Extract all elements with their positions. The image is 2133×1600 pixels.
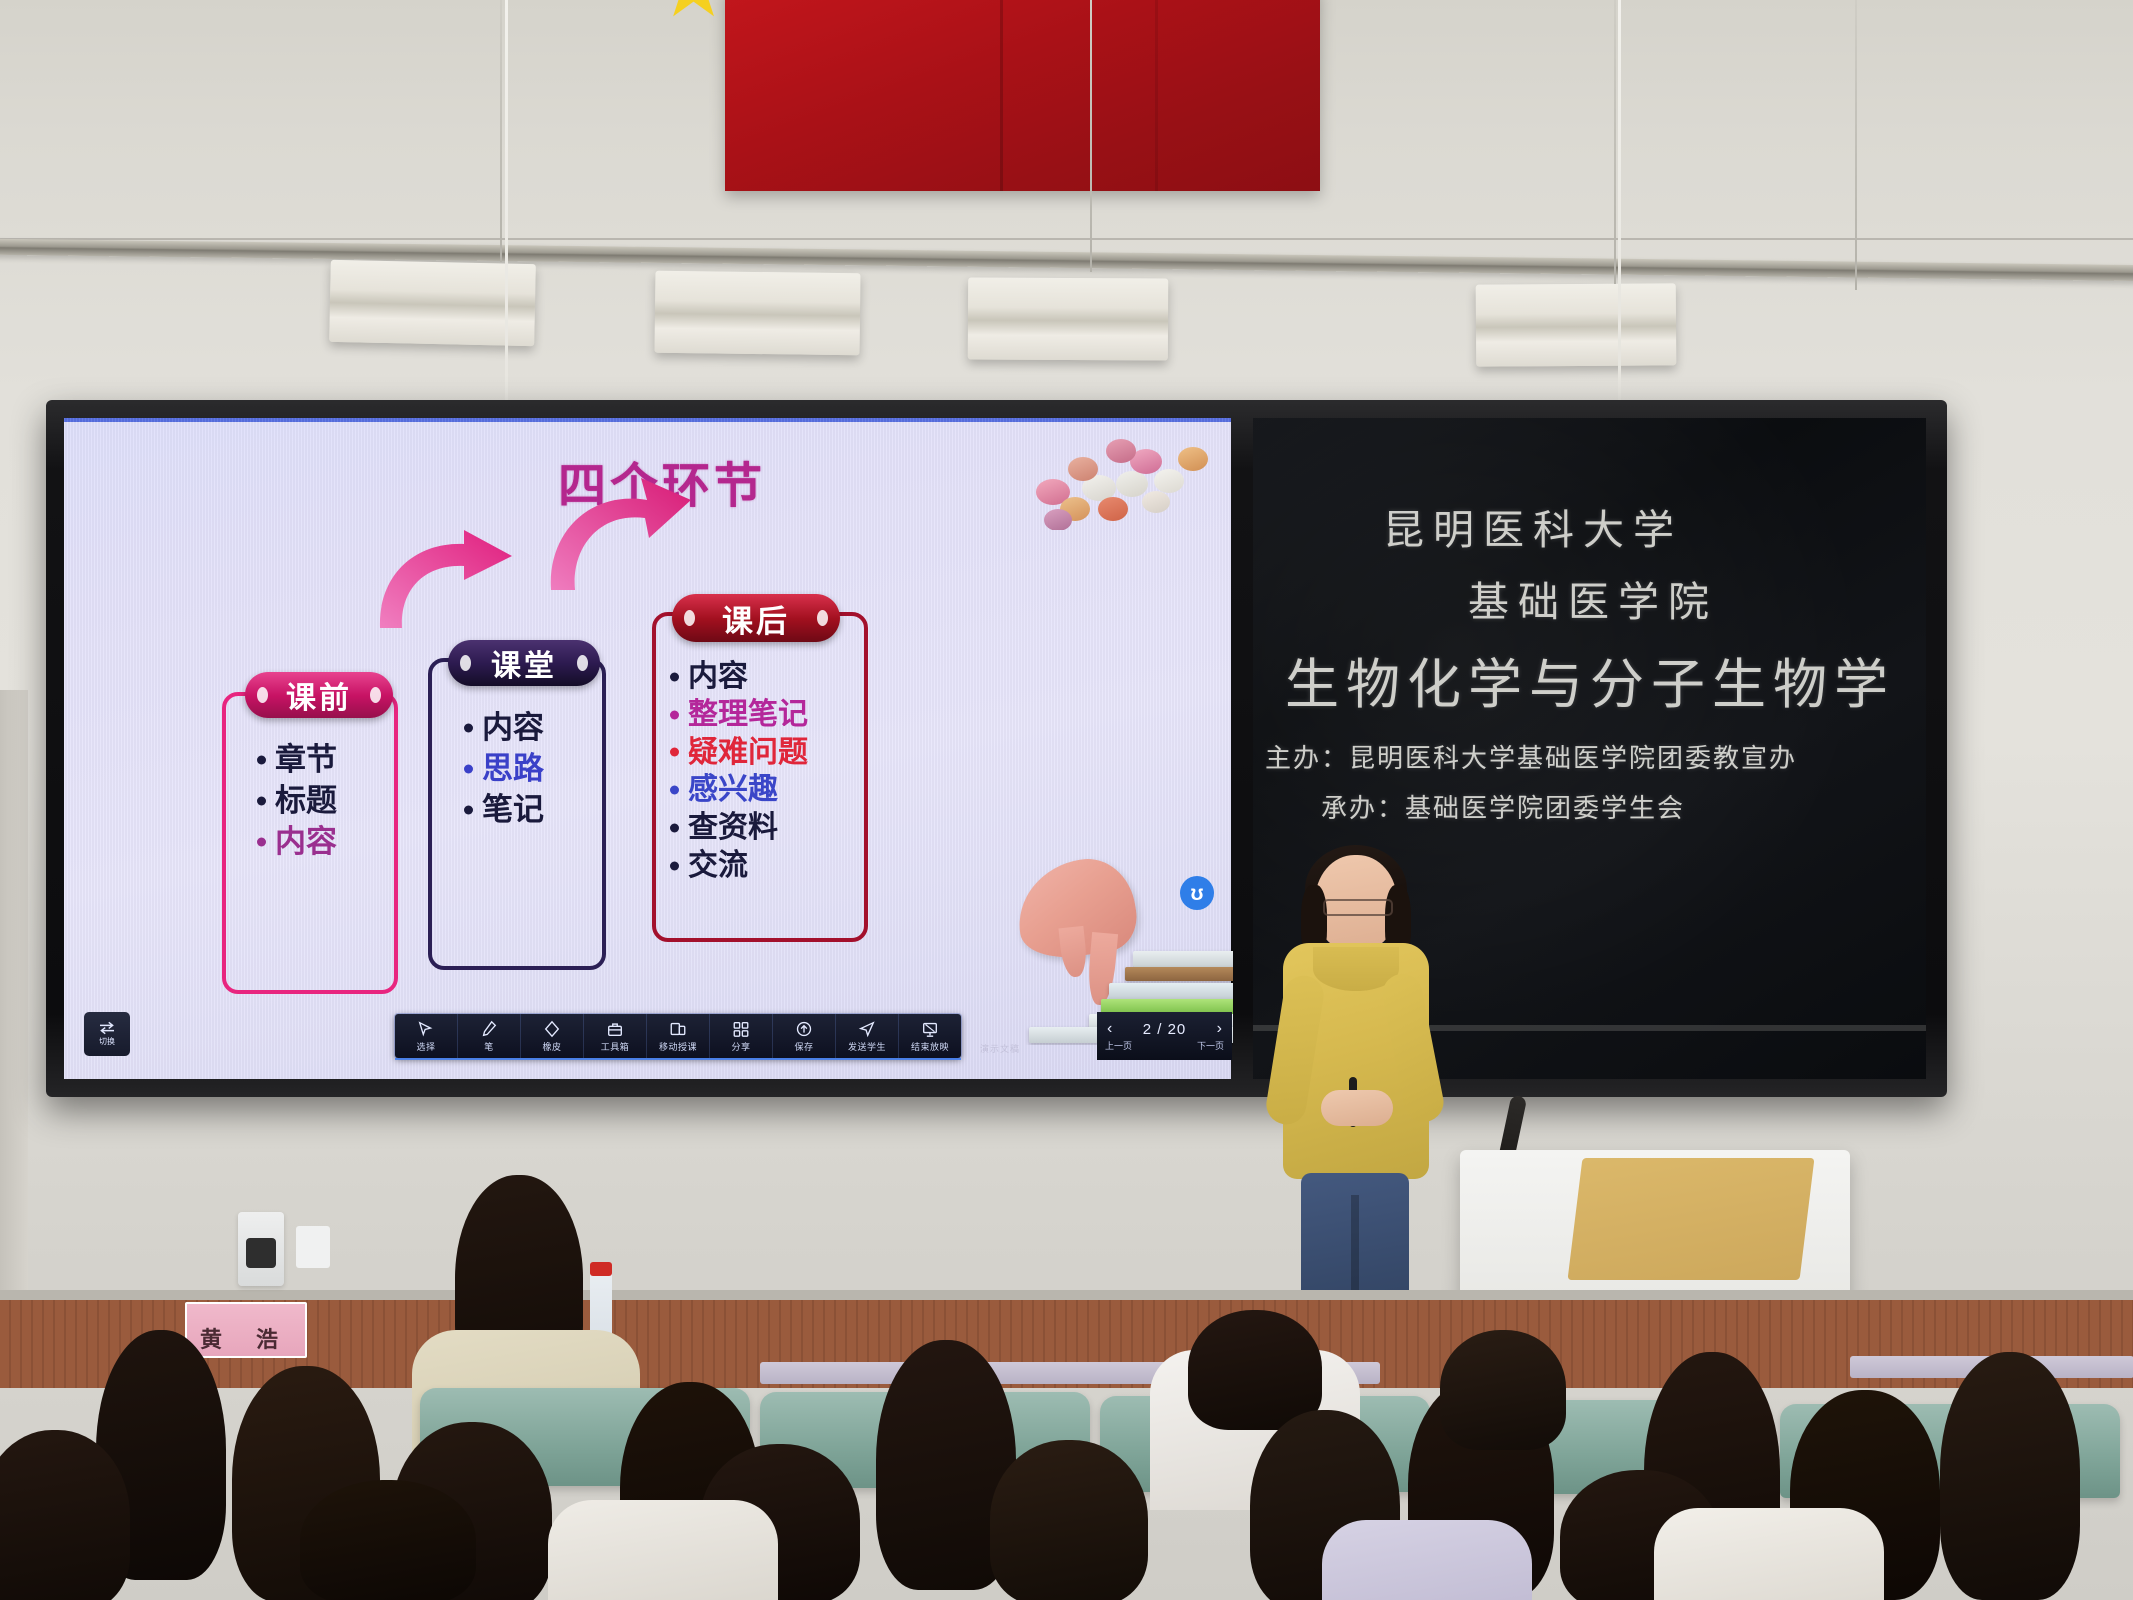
tool-send-to-students[interactable]: 发送学生 [836,1014,899,1058]
lectern-top-panel [1568,1158,1815,1280]
switch-button-label: 切换 [99,1036,115,1047]
page-indicator: 2 / 20 [1143,1021,1187,1038]
end-show-icon [921,1019,939,1038]
mobile-teaching-icon [669,1019,687,1038]
water-bottle-cap [590,1262,612,1276]
chalkboard-line: 昆明医科大学 [1383,496,1683,556]
flag-star-icon: ★ [655,0,732,30]
tool-pen[interactable]: 笔 [458,1014,521,1058]
tool-toolbox[interactable]: 工具箱 [584,1014,647,1058]
list-item: 疑难问题 [668,734,808,772]
tool-mobile-teaching[interactable]: 移动授课 [647,1014,710,1058]
side-door [0,690,28,1310]
stage-label: 课堂 [491,641,557,685]
wall-sanitizer-dispenser [238,1212,284,1286]
tool-label: 笔 [484,1040,494,1053]
tool-end-show[interactable]: 结束放映 [899,1014,961,1058]
curved-arrow-icon [372,520,522,630]
tool-eraser[interactable]: 橡皮 [521,1014,584,1058]
list-item: 笔记 [462,790,544,831]
lamp-wire [1855,0,1857,290]
logo-glyph: ʊ [1190,883,1203,904]
student-head [1440,1330,1566,1450]
list-item: 交流 [668,847,808,885]
send-paperplane-icon [858,1019,876,1038]
student-shoulders [1654,1508,1884,1600]
list-item: 标题 [255,781,337,822]
stage-bullets-before-class: 章节 标题 内容 [255,740,337,863]
list-item: 内容 [255,822,337,863]
tool-label: 橡皮 [542,1040,561,1053]
ceiling-lamp [1476,283,1677,366]
presenter-hands [1321,1090,1393,1126]
chalkboard-line: 主办：昆明医科大学基础医学院团委教宣办 [1265,738,1797,775]
lamp-wire [500,0,502,262]
switch-button[interactable]: 切换 [84,1012,130,1056]
toolbox-icon [606,1019,624,1038]
student-head [1940,1352,2080,1600]
chalkboard-line: 生物化学与分子生物学 [1285,640,1895,719]
tool-save[interactable]: 保存 [773,1014,836,1058]
list-item: 感兴趣 [668,771,808,809]
swap-arrows-icon [98,1021,116,1035]
student-head [1188,1310,1322,1430]
ceiling-lamp [655,271,861,355]
eraser-icon [543,1019,561,1038]
tool-share[interactable]: 分享 [710,1014,773,1058]
share-icon [732,1019,750,1038]
app-logo-badge: ʊ [1180,876,1214,910]
tool-label: 发送学生 [848,1040,886,1053]
nameplate-text: 黄 浩 [200,1322,292,1356]
student-head [300,1480,476,1600]
list-item: 内容 [668,658,808,696]
student-shoulders [548,1500,778,1600]
presenter-glasses [1323,899,1393,916]
tool-label: 结束放映 [911,1040,949,1053]
stage-bullets-after-class: 内容 整理笔记 疑难问题 感兴趣 查资料 交流 [668,658,808,885]
presentation-toolbar: 选择 笔 橡皮 工具箱 移动授课 分享 [395,1014,961,1058]
list-item: 章节 [255,740,337,781]
tool-label: 保存 [794,1040,813,1053]
next-page-arrow[interactable]: › [1217,1020,1222,1038]
lamp-wire [1090,0,1092,272]
student-shoulders [1322,1520,1532,1600]
stage-bullets-in-class: 内容 思路 笔记 [462,708,544,831]
chalkboard-line: 承办：基础医学院团委学生会 [1321,788,1685,825]
chalkboard-line: 基础医学院 [1468,568,1718,628]
list-item: 思路 [462,749,544,790]
curved-arrow-icon [545,472,695,592]
tool-label: 分享 [731,1040,750,1053]
page-navigation: ‹ 2 / 20 › 上一页 下一页 [1097,1012,1232,1060]
lamp-wire [1614,0,1616,284]
list-item: 整理笔记 [668,696,808,734]
list-item: 内容 [462,708,544,749]
prev-page-label[interactable]: 上一页 [1105,1039,1132,1052]
tool-label: 选择 [416,1040,435,1053]
ceiling-lamp [968,277,1168,360]
tool-label: 移动授课 [659,1040,697,1053]
wall-socket [296,1226,330,1268]
student-head [990,1440,1148,1600]
candy-decoration-image [1030,425,1230,530]
stage-label: 课后 [722,596,790,641]
chinese-flag: ★ [725,0,1320,191]
tool-label: 工具箱 [601,1040,630,1053]
wall-nameplate: 黄 浩 [185,1302,307,1358]
stage-pill-after-class: 课后 [672,594,840,642]
save-cloud-icon [795,1019,813,1038]
screen-edge-glow [64,418,1231,422]
classroom-photo-scene: ★ 四个环节 [0,0,2133,1600]
stage-label: 课前 [286,673,352,717]
list-item: 查资料 [668,809,808,847]
stage-pill-before-class: 课前 [245,672,393,718]
next-page-label[interactable]: 下一页 [1197,1039,1224,1052]
prev-page-arrow[interactable]: ‹ [1107,1020,1112,1038]
slide-watermark: 演示文稿 [980,1042,1020,1055]
pen-icon [480,1019,498,1038]
wall-seam [0,238,2133,240]
tool-select[interactable]: 选择 [395,1014,458,1058]
cursor-arrow-icon [417,1019,435,1038]
finger [1058,926,1088,978]
stage-pill-in-class: 课堂 [448,640,600,686]
